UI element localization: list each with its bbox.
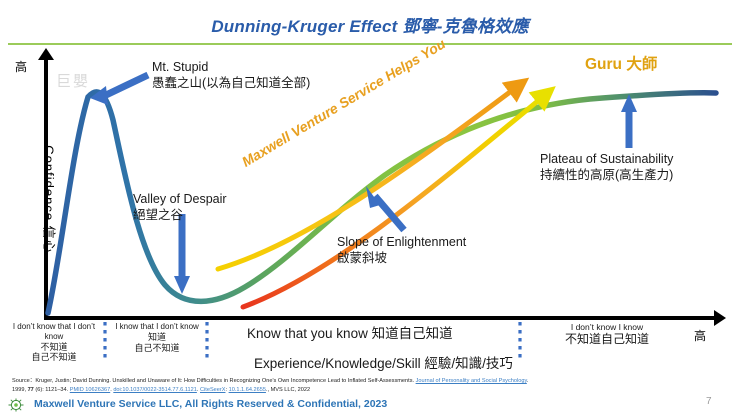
slide-canvas: Dunning-Kruger Effect 鄧寧-克魯格效應 高 高 Confi… — [0, 0, 740, 416]
x-axis-high-label: 高 — [694, 327, 706, 344]
footer-copyright: Maxwell Venture Service LLC, All Rights … — [34, 398, 387, 410]
valley-en: Valley of Despair — [133, 192, 227, 206]
source-pmid-link[interactable]: PMID 10626367 — [70, 387, 110, 393]
source-journal-link[interactable]: Journal of Personality and Social Psycho… — [416, 378, 527, 384]
annotation-plateau-of-sustainability: Plateau of Sustainability 持續性的高原(高生產力) — [540, 152, 673, 183]
title-divider — [8, 43, 732, 45]
page-title: Dunning-Kruger Effect 鄧寧-克魯格效應 — [0, 12, 740, 37]
source-citeseerx-id-link[interactable]: 10.1.1.64.2655 — [229, 387, 266, 393]
source-citation: Source：Kruger, Justin; David Dunning. Un… — [12, 377, 702, 394]
plateau-pointer-arrow — [621, 94, 637, 148]
x-tick-1-zh2: 自己不知道 — [108, 343, 206, 354]
mt-stupid-pointer-arrow — [90, 75, 148, 105]
x-tick-2-en: I don’t know I know — [522, 322, 692, 332]
slope-of-enlightenment-pointer-arrow — [366, 186, 404, 230]
x-tick-1-en: I know that I don’t know — [108, 322, 206, 332]
source-citeseerx-link[interactable]: CiteSeerX — [200, 387, 226, 393]
x-axis-caption-secondary: Experience/Knowledge/Skill 經驗/知識/技巧 — [254, 352, 513, 372]
mt-stupid-en: Mt. Stupid — [152, 60, 208, 74]
source-line2-end: ., MVS LLC, 2022 — [266, 387, 310, 393]
x-tick-label-0: I don’t know that I don’t know 不知道 自己不知道 — [5, 322, 103, 363]
plateau-en: Plateau of Sustainability — [540, 152, 673, 166]
x-tick-0-zh2: 自己不知道 — [5, 352, 103, 363]
annotation-mt-stupid: Mt. Stupid 愚蠢之山(以為自己知道全部) — [152, 60, 310, 91]
company-logo-icon — [8, 398, 24, 412]
x-tick-label-2: I don’t know I know 不知道自己知道 — [522, 322, 692, 347]
plateau-zh: 持續性的高原(高生產力) — [540, 168, 673, 184]
source-line1-text: Source：Kruger, Justin; David Dunning. Un… — [12, 378, 416, 384]
annotation-slope-of-enlightenment: Slope of Enlightenment 啟蒙斜坡 — [337, 235, 466, 266]
x-axis-caption-primary: Know that you know 知道自己知道 — [247, 322, 453, 342]
annotation-valley-of-despair: Valley of Despair 絕望之谷 — [133, 192, 227, 223]
giant-baby-watermark: 巨嬰 — [56, 70, 90, 91]
slope-zh: 啟蒙斜坡 — [337, 251, 466, 267]
slope-en: Slope of Enlightenment — [337, 235, 466, 249]
annotation-guru: Guru 大師 — [585, 52, 657, 74]
x-tick-0-zh1: 不知道 — [5, 342, 103, 353]
source-line1-end: . — [527, 378, 529, 384]
x-axis-arrowhead-icon — [714, 310, 726, 326]
mt-stupid-zh: 愚蠢之山(以為自己知道全部) — [152, 76, 310, 92]
source-issue-pages: (6): 1121–34. — [34, 387, 70, 393]
x-tick-1-zh1: 知道 — [108, 332, 206, 343]
y-axis-high-label: 高 — [15, 58, 27, 75]
valley-zh: 絕望之谷 — [133, 208, 227, 224]
x-tick-2-zh1: 不知道自己知道 — [522, 332, 692, 347]
source-year: 1999, — [12, 387, 28, 393]
x-tick-label-1: I know that I don’t know 知道 自己不知道 — [108, 322, 206, 354]
valley-of-despair-pointer-arrow — [174, 214, 190, 294]
y-axis-arrowhead-icon — [38, 48, 54, 60]
page-number: 7 — [706, 396, 712, 407]
source-doi-link[interactable]: doi:10.1037/0022-3514.77.6.1121 — [113, 387, 197, 393]
y-axis-title: Confidence 信心 — [41, 125, 60, 275]
x-tick-0-en: I don’t know that I don’t know — [5, 322, 103, 342]
x-axis-line — [44, 316, 716, 320]
